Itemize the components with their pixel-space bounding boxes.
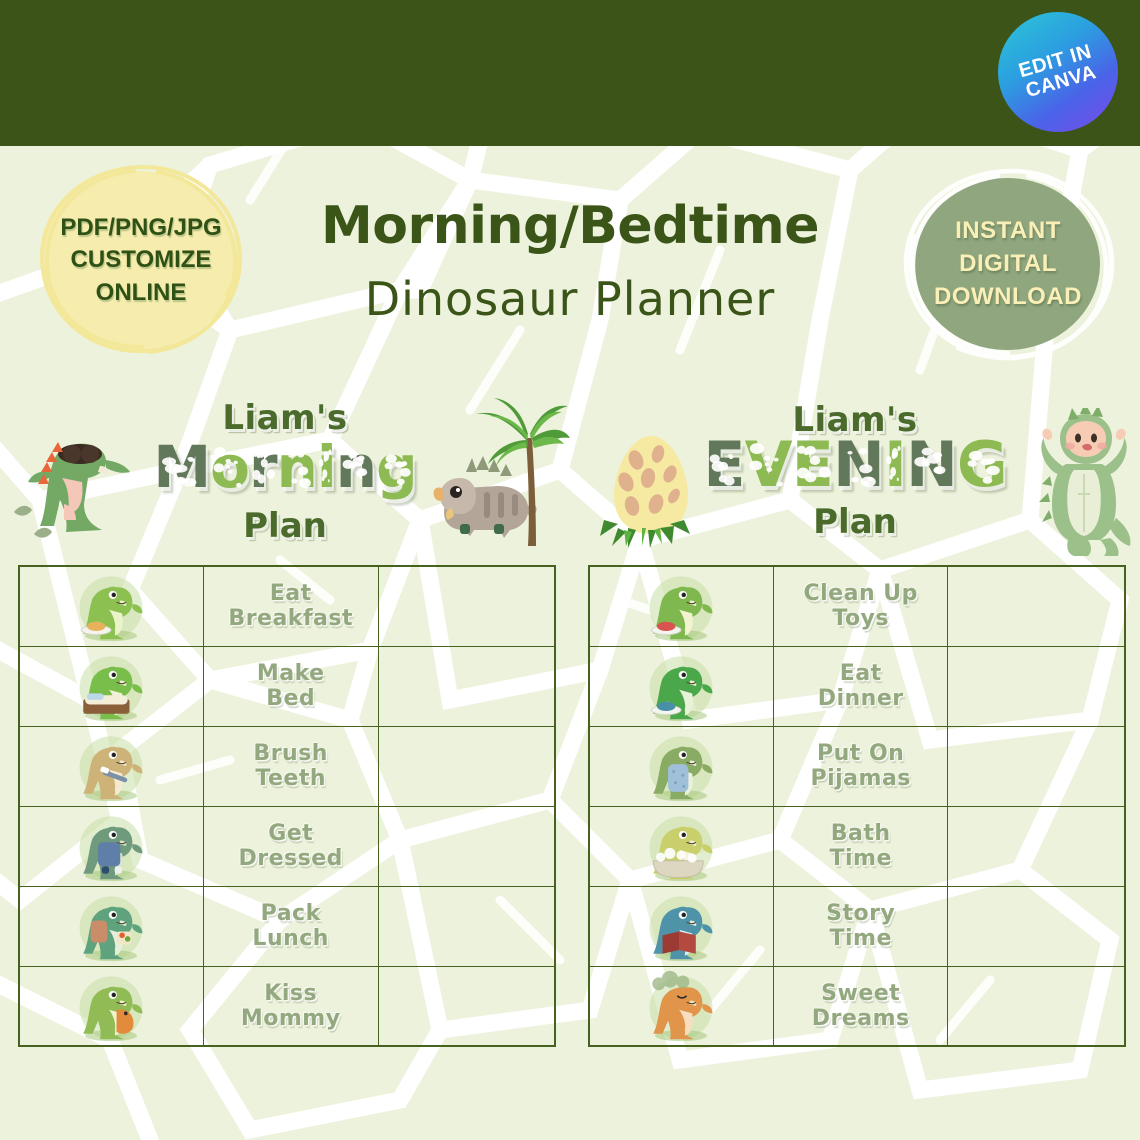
- dino-with-toys-icon: [643, 569, 719, 643]
- task-label-line1: Bath: [774, 821, 948, 846]
- task-label-line1: Make: [204, 661, 378, 686]
- task-label-cell: EatDinner: [773, 646, 948, 726]
- table-row: EatBreakfast: [19, 566, 555, 646]
- task-check-cell[interactable]: [378, 566, 555, 646]
- edit-in-canva-badge[interactable]: EDIT IN CANVA: [998, 12, 1118, 132]
- task-check-cell[interactable]: [948, 966, 1125, 1046]
- task-label: Clean UpToys: [774, 581, 948, 631]
- task-image-cell: [589, 646, 773, 726]
- table-row: MakeBed: [19, 646, 555, 726]
- plan-letter: V: [745, 434, 792, 496]
- task-label-line1: Pack: [204, 901, 378, 926]
- task-check-cell[interactable]: [948, 886, 1125, 966]
- task-label-line1: Kiss: [204, 981, 378, 1006]
- task-label: SweetDreams: [774, 981, 948, 1031]
- plan-letter: N: [906, 434, 957, 496]
- plan-letter: N: [833, 434, 884, 496]
- task-label-line2: Bed: [204, 686, 378, 711]
- task-image-cell: [19, 806, 203, 886]
- evening-plan-header: Liam's EVENING Plan: [570, 392, 1140, 562]
- task-check-cell[interactable]: [378, 646, 555, 726]
- task-label-line2: Dreams: [774, 1006, 948, 1031]
- header-banner: [0, 0, 1140, 146]
- two-dinos-hug-icon: [73, 969, 149, 1043]
- dino-lunchbag-icon: [73, 889, 149, 963]
- table-row: KissMommy: [19, 966, 555, 1046]
- task-label-cell: BrushTeeth: [203, 726, 378, 806]
- task-image-cell: [19, 646, 203, 726]
- plan-letter: G: [957, 434, 1007, 496]
- task-label-cell: Put OnPijamas: [773, 726, 948, 806]
- dino-bathtub-icon: [643, 809, 719, 883]
- task-label-line2: Toys: [774, 606, 948, 631]
- dino-lunchbag-icon: [73, 889, 149, 963]
- task-check-cell[interactable]: [948, 806, 1125, 886]
- dino-with-toys-icon: [643, 569, 719, 643]
- task-label-line2: Lunch: [204, 926, 378, 951]
- task-label: EatDinner: [774, 661, 948, 711]
- table-row: PackLunch: [19, 886, 555, 966]
- plan-letter: M: [153, 438, 210, 496]
- task-label-cell: PackLunch: [203, 886, 378, 966]
- table-row: StoryTime: [589, 886, 1125, 966]
- file-formats-text: PDF/PNG/JPG CUSTOMIZE ONLINE: [30, 212, 252, 309]
- dino-pajamas-icon: [643, 729, 719, 803]
- task-label: PackLunch: [204, 901, 378, 951]
- morning-table-body: EatBreakfast MakeBed BrushTeeth: [19, 566, 555, 1046]
- plan-letter: n: [277, 438, 317, 496]
- dino-dinner-plate-icon: [643, 649, 719, 723]
- task-label-line1: Eat: [204, 581, 378, 606]
- evening-routine-table: Clean UpToys EatDinner Put OnPijamas: [588, 565, 1126, 1047]
- dino-eating-pancakes-icon: [73, 569, 149, 643]
- two-dinos-hug-icon: [73, 969, 149, 1043]
- dino-toothbrush-icon: [73, 729, 149, 803]
- evening-table-body: Clean UpToys EatDinner Put OnPijamas: [589, 566, 1125, 1046]
- task-image-cell: [589, 726, 773, 806]
- table-row: Put OnPijamas: [589, 726, 1125, 806]
- task-check-cell[interactable]: [378, 886, 555, 966]
- task-label-line1: Clean Up: [774, 581, 948, 606]
- task-check-cell[interactable]: [948, 566, 1125, 646]
- badge-left-line1: PDF/PNG/JPG: [30, 212, 252, 244]
- task-label-line2: Time: [774, 926, 948, 951]
- task-label-cell: KissMommy: [203, 966, 378, 1046]
- task-label: StoryTime: [774, 901, 948, 951]
- task-image-cell: [589, 806, 773, 886]
- task-label: MakeBed: [204, 661, 378, 711]
- badge-right-line1: INSTANT: [898, 214, 1118, 247]
- task-label: GetDressed: [204, 821, 378, 871]
- task-label-line2: Mommy: [204, 1006, 378, 1031]
- task-check-cell[interactable]: [378, 806, 555, 886]
- task-check-cell[interactable]: [948, 726, 1125, 806]
- task-label-line2: Teeth: [204, 766, 378, 791]
- task-label-line2: Dinner: [774, 686, 948, 711]
- instant-download-badge: INSTANT DIGITAL DOWNLOAD: [898, 166, 1118, 362]
- task-image-cell: [19, 966, 203, 1046]
- task-check-cell[interactable]: [378, 966, 555, 1046]
- badge-left-line3: ONLINE: [30, 277, 252, 309]
- plan-letter: n: [336, 438, 376, 496]
- edit-in-canva-label: EDIT IN CANVA: [1016, 41, 1099, 102]
- dino-bathtub-icon: [643, 809, 719, 883]
- task-label-cell: MakeBed: [203, 646, 378, 726]
- plan-letter: E: [792, 434, 833, 496]
- task-label-cell: Clean UpToys: [773, 566, 948, 646]
- task-label-cell: SweetDreams: [773, 966, 948, 1046]
- morning-plan-header: Liam's Morning Plan: [0, 392, 570, 562]
- task-label-line1: Sweet: [774, 981, 948, 1006]
- instant-download-text: INSTANT DIGITAL DOWNLOAD: [898, 214, 1118, 313]
- dino-pajamas-icon: [643, 729, 719, 803]
- task-image-cell: [19, 886, 203, 966]
- task-label-line1: Eat: [774, 661, 948, 686]
- dino-toothbrush-icon: [73, 729, 149, 803]
- task-label-line2: Breakfast: [204, 606, 378, 631]
- task-label-line2: Time: [774, 846, 948, 871]
- plan-letter: g: [376, 438, 417, 496]
- dino-sleeping-icon: [643, 969, 719, 1043]
- task-label-cell: BathTime: [773, 806, 948, 886]
- task-image-cell: [19, 726, 203, 806]
- dino-in-bed-icon: [73, 649, 149, 723]
- badge-right-line2: DIGITAL: [898, 247, 1118, 280]
- task-label-line1: Brush: [204, 741, 378, 766]
- plan-letter: E: [703, 434, 744, 496]
- task-label: BathTime: [774, 821, 948, 871]
- dino-eating-pancakes-icon: [73, 569, 149, 643]
- morning-routine-table: EatBreakfast MakeBed BrushTeeth: [18, 565, 556, 1047]
- task-label-line2: Pijamas: [774, 766, 948, 791]
- plan-letter: I: [884, 434, 906, 496]
- task-label-cell: EatBreakfast: [203, 566, 378, 646]
- task-image-cell: [19, 566, 203, 646]
- plan-letter: o: [210, 438, 249, 496]
- dino-dressed-backpack-icon: [73, 809, 149, 883]
- task-label: EatBreakfast: [204, 581, 378, 631]
- dino-sleeping-icon: [643, 969, 719, 1043]
- task-image-cell: [589, 566, 773, 646]
- palm-tree-icon: [470, 398, 570, 548]
- table-row: BathTime: [589, 806, 1125, 886]
- document-subtitle: Dinosaur Planner: [270, 272, 870, 326]
- file-formats-badge: PDF/PNG/JPG CUSTOMIZE ONLINE: [30, 160, 252, 358]
- dino-in-bed-icon: [73, 649, 149, 723]
- task-check-cell[interactable]: [948, 646, 1125, 726]
- task-label-cell: StoryTime: [773, 886, 948, 966]
- task-label-line1: Get: [204, 821, 378, 846]
- dino-reading-book-icon: [643, 889, 719, 963]
- dino-dressed-backpack-icon: [73, 809, 149, 883]
- task-check-cell[interactable]: [378, 726, 555, 806]
- task-label-line1: Put On: [774, 741, 948, 766]
- task-label: BrushTeeth: [204, 741, 378, 791]
- table-row: Clean UpToys: [589, 566, 1125, 646]
- task-label-line1: Story: [774, 901, 948, 926]
- task-label: Put OnPijamas: [774, 741, 948, 791]
- plan-letter: r: [249, 438, 277, 496]
- table-row: SweetDreams: [589, 966, 1125, 1046]
- table-row: GetDressed: [19, 806, 555, 886]
- plan-letter: i: [317, 438, 336, 496]
- table-row: EatDinner: [589, 646, 1125, 726]
- badge-left-line2: CUSTOMIZE: [30, 244, 252, 276]
- task-image-cell: [589, 886, 773, 966]
- child-in-dino-costume-icon: [1022, 408, 1132, 558]
- badge-right-line3: DOWNLOAD: [898, 280, 1118, 313]
- dino-dinner-plate-icon: [643, 649, 719, 723]
- document-title: Morning/Bedtime: [270, 196, 870, 256]
- task-label: KissMommy: [204, 981, 378, 1031]
- dino-reading-book-icon: [643, 889, 719, 963]
- task-image-cell: [589, 966, 773, 1046]
- task-label-cell: GetDressed: [203, 806, 378, 886]
- table-row: BrushTeeth: [19, 726, 555, 806]
- task-label-line2: Dressed: [204, 846, 378, 871]
